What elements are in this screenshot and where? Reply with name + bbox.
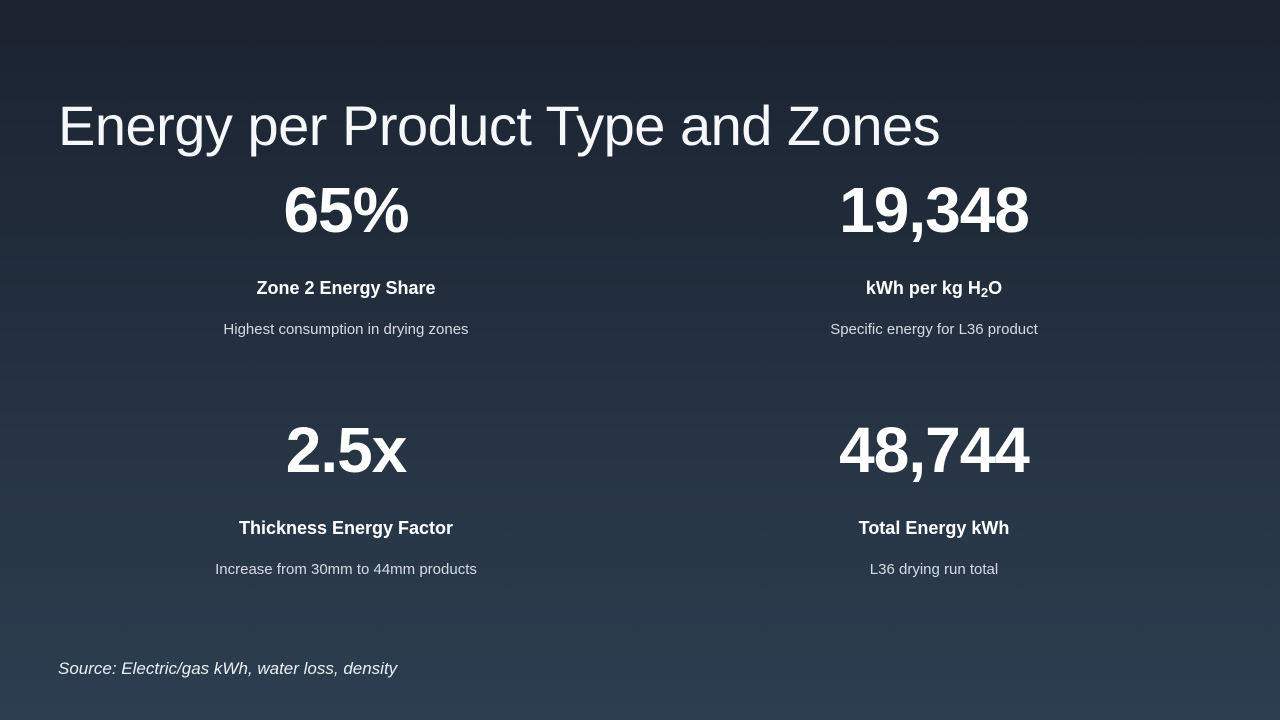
kpi-card-thickness-energy-factor: 2.5x Thickness Energy Factor Increase fr… [52, 400, 640, 640]
kpi-label-text-suffix: O [988, 278, 1002, 298]
kpi-label: Total Energy kWh [859, 518, 1010, 540]
kpi-label-text: Zone 2 Energy Share [256, 278, 435, 298]
kpi-label: Zone 2 Energy Share [256, 278, 435, 300]
kpi-description: L36 drying run total [870, 561, 998, 580]
kpi-label-text: Total Energy kWh [859, 518, 1010, 538]
kpi-label: kWh per kg H2O [866, 278, 1002, 300]
page-title: Energy per Product Type and Zones [58, 94, 940, 158]
kpi-description: Increase from 30mm to 44mm products [215, 561, 477, 580]
kpi-label: Thickness Energy Factor [239, 518, 453, 540]
kpi-value: 48,744 [839, 418, 1029, 482]
kpi-label-text: kWh per kg H [866, 278, 981, 298]
kpi-value: 2.5x [286, 418, 407, 482]
kpi-label-text: Thickness Energy Factor [239, 518, 453, 538]
slide-root: Energy per Product Type and Zones 65% Zo… [0, 0, 1280, 720]
source-note: Source: Electric/gas kWh, water loss, de… [58, 658, 397, 680]
kpi-description: Highest consumption in drying zones [223, 321, 468, 340]
kpi-grid: 65% Zone 2 Energy Share Highest consumpt… [0, 160, 1280, 640]
kpi-description: Specific energy for L36 product [830, 321, 1038, 340]
kpi-card-zone-2-energy-share: 65% Zone 2 Energy Share Highest consumpt… [52, 160, 640, 400]
kpi-card-total-energy-kwh: 48,744 Total Energy kWh L36 drying run t… [640, 400, 1228, 640]
kpi-value: 19,348 [839, 178, 1029, 242]
kpi-value: 65% [283, 178, 408, 242]
kpi-card-kwh-per-kg-water: 19,348 kWh per kg H2O Specific energy fo… [640, 160, 1228, 400]
